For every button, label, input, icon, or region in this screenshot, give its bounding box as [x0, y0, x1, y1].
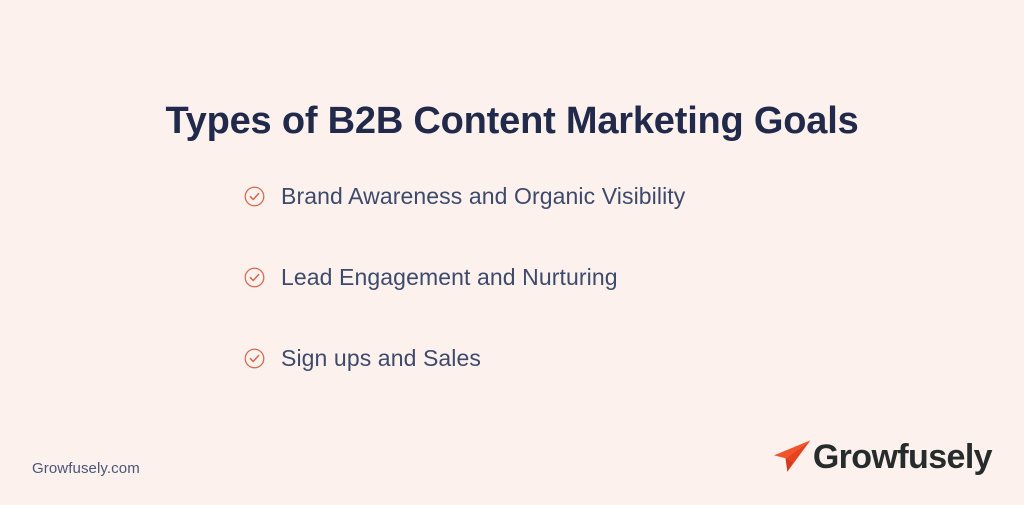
paper-plane-icon	[771, 439, 813, 473]
page-title: Types of B2B Content Marketing Goals	[0, 97, 1024, 145]
circle-check-icon	[244, 267, 265, 288]
circle-check-icon	[244, 186, 265, 207]
list-item: Sign ups and Sales	[244, 340, 685, 376]
list-item: Brand Awareness and Organic Visibility	[244, 178, 685, 214]
brand-logo: Growfusely	[771, 434, 992, 480]
list-item: Lead Engagement and Nurturing	[244, 259, 685, 295]
list-item-label: Lead Engagement and Nurturing	[281, 262, 618, 292]
brand-wordmark: Growfusely	[813, 437, 992, 477]
footer-site-url: Growfusely.com	[32, 458, 140, 480]
slide-canvas: Types of B2B Content Marketing Goals Bra…	[0, 0, 1024, 505]
list-item-label: Brand Awareness and Organic Visibility	[281, 181, 685, 211]
list-item-label: Sign ups and Sales	[281, 343, 481, 373]
circle-check-icon	[244, 348, 265, 369]
goal-list: Brand Awareness and Organic Visibility L…	[244, 178, 685, 376]
